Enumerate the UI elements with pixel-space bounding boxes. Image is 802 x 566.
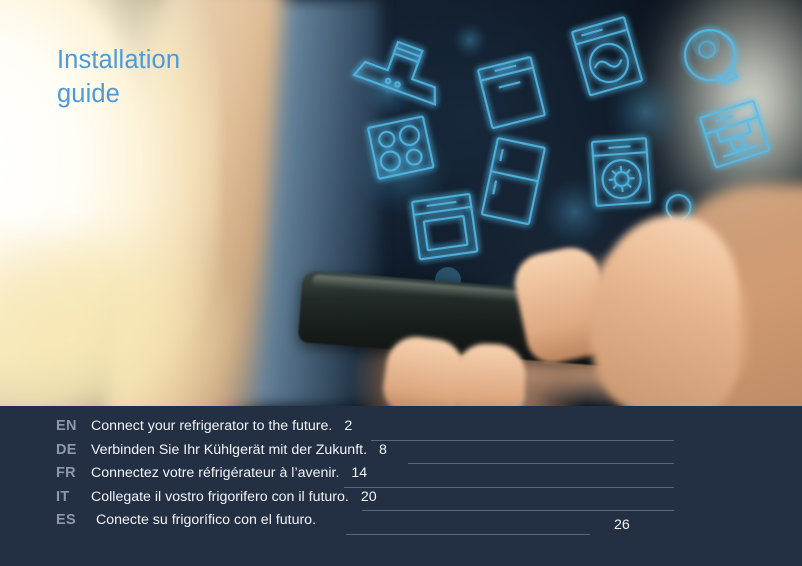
language-row-fr[interactable]: FR Connectez votre réfrigérateur à l’ave… (56, 465, 616, 489)
language-text-de: Verbinden Sie Ihr Kühlgerät mit der Zuku… (91, 442, 367, 458)
language-row-de[interactable]: DE Verbinden Sie Ihr Kühlgerät mit der Z… (56, 442, 616, 466)
language-page-fr: 14 (351, 465, 367, 481)
language-row-it[interactable]: IT Collegate il vostro frigorifero con i… (56, 489, 616, 513)
language-text-es: Conecte su frigorífico con el futuro. (96, 512, 316, 528)
installation-guide-cover: Installation guide EN Connect your refri… (0, 0, 802, 566)
language-page-de: 8 (379, 442, 387, 458)
language-text-it: Collegate il vostro frigorifero con il f… (91, 489, 349, 505)
language-page-en: 2 (344, 418, 352, 434)
language-code-de: DE (56, 442, 82, 458)
language-row-en[interactable]: EN Connect your refrigerator to the futu… (56, 418, 616, 442)
page-title-line-1: Installation (57, 44, 180, 78)
language-footer: EN Connect your refrigerator to the futu… (0, 406, 802, 566)
language-rule-it (362, 510, 674, 511)
language-code-es: ES (56, 512, 82, 528)
coffee-machine-icon (700, 101, 769, 168)
language-page-it: 20 (361, 489, 377, 505)
refrigerator-icon (482, 138, 545, 224)
language-rule-es (346, 534, 590, 535)
language-text-fr: Connectez votre réfrigérateur à l’avenir… (91, 465, 339, 481)
finger (454, 343, 527, 406)
language-code-it: IT (56, 489, 82, 505)
page-title-line-2: guide (57, 78, 180, 112)
language-rule-fr (344, 487, 674, 488)
language-index-list: EN Connect your refrigerator to the futu… (56, 418, 616, 536)
language-row-es[interactable]: ES Conecte su frigorífico con el futuro.… (56, 512, 616, 536)
language-code-fr: FR (56, 465, 82, 481)
language-text-en: Connect your refrigerator to the future. (91, 418, 332, 434)
language-page-es: 26 (614, 517, 630, 533)
washing-machine-icon (572, 17, 642, 95)
language-rule-de (408, 463, 674, 464)
language-code-en: EN (56, 418, 82, 434)
dishwasher-icon (478, 57, 545, 128)
language-rule-en (371, 440, 674, 441)
page-title: Installation guide (57, 44, 180, 112)
